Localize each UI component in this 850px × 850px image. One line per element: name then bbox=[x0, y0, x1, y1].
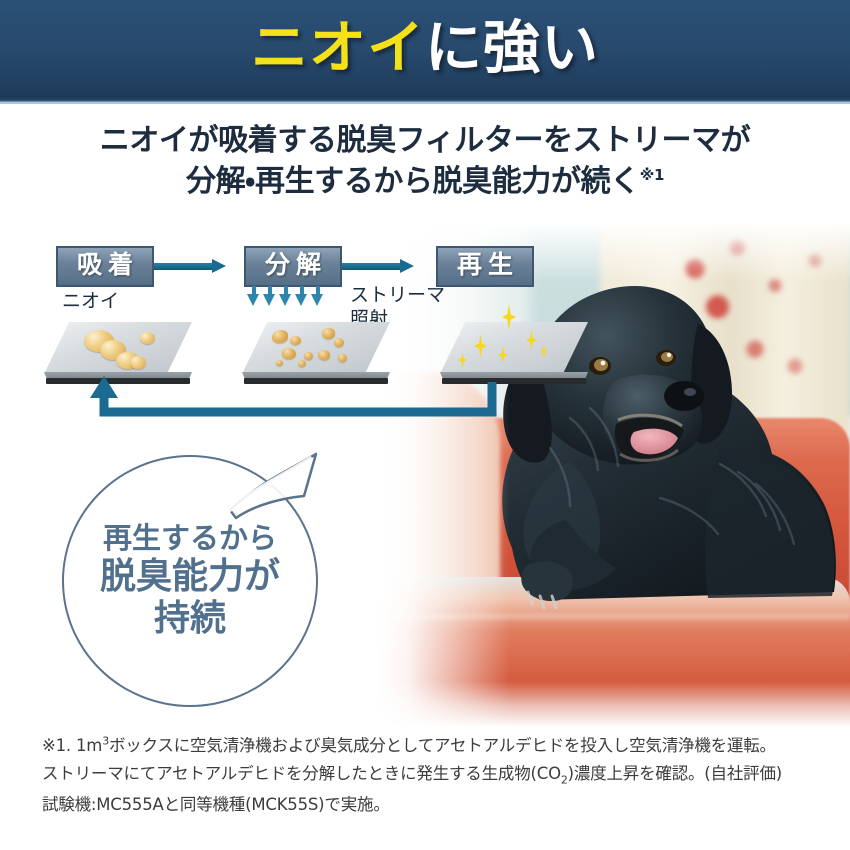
footnote-line-1: ※1. 1m3ボックスに空気清浄機および臭気成分としてアセトアルデヒドを投入し空… bbox=[42, 732, 832, 760]
speech-bubble-tail bbox=[220, 440, 350, 530]
bubble-line-3: 持続 bbox=[100, 598, 280, 640]
footnote-2-b: )濃度上昇を確認。(自社評価) bbox=[568, 764, 782, 783]
footnote-line-2: ストリーマにてアセトアルデヒドを分解したときに発生する生成物(CO2)濃度上昇を… bbox=[42, 760, 832, 790]
footnote-2-a: ストリーマにてアセトアルデヒドを分解したときに発生する生成物(CO bbox=[42, 764, 561, 783]
footnote-1-sup: 3 bbox=[102, 735, 109, 748]
footnote-line-3: 試験機:MC555Aと同等機種(MCK55S)で実施。 bbox=[42, 791, 832, 819]
bubble-line-2: 脱臭能力が bbox=[100, 556, 280, 598]
footnote-1-b: ボックスに空気清浄機および臭気成分としてアセトアルデヒドを投入し空気清浄機を運転… bbox=[109, 736, 776, 755]
footnote-1-a: ※1. 1m bbox=[42, 736, 102, 755]
speech-bubble-text: 再生するから 脱臭能力が 持続 bbox=[100, 521, 280, 640]
footnotes: ※1. 1m3ボックスに空気清浄機および臭気成分としてアセトアルデヒドを投入し空… bbox=[42, 732, 832, 819]
footnote-2-sub: 2 bbox=[561, 774, 568, 787]
product-feature-panel: ニオイに強い ニオイが吸着する脱臭フィルターをストリーマが 分解・再生するから脱… bbox=[0, 0, 850, 850]
regeneration-loop-arrow bbox=[0, 0, 850, 850]
